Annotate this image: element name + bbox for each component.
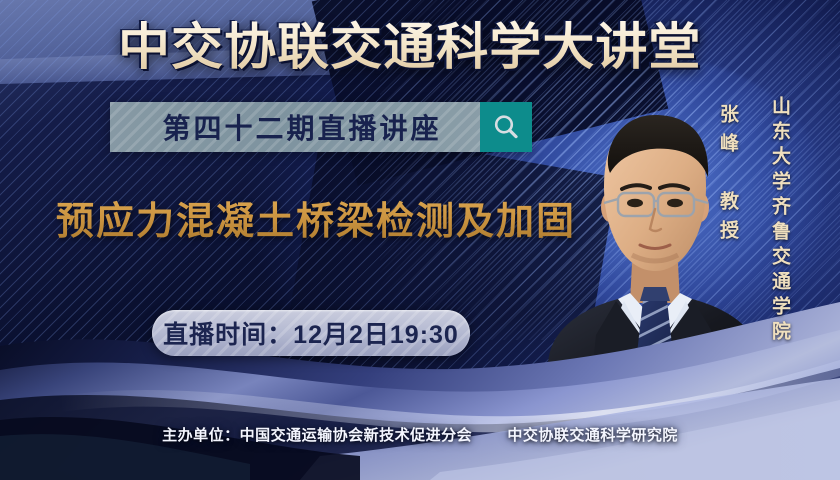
footer: 主办单位：中国交通运输协会新技术促进分会 中交协联交通科学研究院 bbox=[0, 424, 840, 445]
speaker-affiliation: 山东大学齐鲁交通学院 bbox=[766, 96, 793, 346]
broadcast-time-text: 直播时间：12月2日19:30 bbox=[163, 315, 459, 351]
episode-banner: 第四十二期直播讲座 bbox=[110, 102, 532, 152]
lecture-title: 预应力混凝土桥梁检测及加固 bbox=[56, 190, 576, 245]
speaker-name-title: 张峰 教授 bbox=[714, 104, 741, 249]
live-lecture-poster: 中交协联交通科学大讲堂 第四十二期直播讲座 预应力混凝土桥梁检测及加固 直播时间… bbox=[0, 0, 840, 480]
search-button[interactable] bbox=[480, 102, 532, 152]
search-icon bbox=[491, 112, 521, 142]
footer-co-organizer: 中交协联交通科学研究院 bbox=[507, 427, 678, 444]
footer-organizer: 主办单位：中国交通运输协会新技术促进分会 bbox=[162, 427, 472, 444]
broadcast-time-badge: 直播时间：12月2日19:30 bbox=[152, 310, 470, 356]
episode-label: 第四十二期直播讲座 bbox=[110, 107, 480, 147]
page-title: 中交协联交通科学大讲堂 bbox=[118, 14, 721, 80]
silk-ribbon-decoration bbox=[0, 250, 840, 480]
